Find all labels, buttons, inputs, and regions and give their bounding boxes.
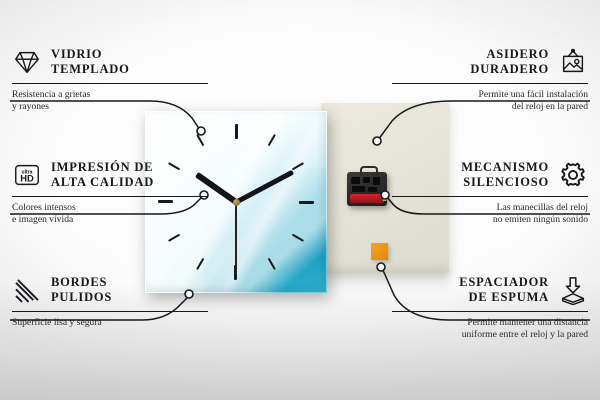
callout-desc-line1: Resistencia a grietas [12,89,208,102]
callout-title-line1: ESPACIADOR [459,275,549,290]
battery [350,194,384,203]
clock-tick [235,124,237,202]
callout-title-line2: DE ESPUMA [459,290,549,305]
callout-desc-line2: e imagen vívida [12,214,208,227]
callout-title-line2: PULIDOS [51,290,112,305]
callout-desc-line2: uniforme entre el reloj y la pared [392,329,588,342]
callout-desc-line1: Superficie lisa y segura [12,317,208,330]
callout-rule [392,196,588,197]
infographic-canvas: VIDRIO TEMPLADO Resistencia a grietas y … [0,0,600,400]
second-hand [235,202,237,274]
clock-mechanism [347,172,387,206]
gear-icon [558,160,588,190]
clock-tick [236,201,314,203]
callout-title-line1: IMPRESIÓN DE [51,160,154,175]
callout-desc-line1: Permite mantener una distancia [392,317,588,330]
callout-title-line2: SILENCIOSO [461,175,549,190]
ultra-hd-badge-icon: ultra HD [12,160,42,190]
callout-desc-line1: Colores intensos [12,202,208,215]
callout-rule [12,196,208,197]
callout-desc-line2: no emiten ningún sonido [392,214,588,227]
callout-desc-line1: Permite una fácil instalación [392,89,588,102]
callout-vidrio-templado: VIDRIO TEMPLADO Resistencia a grietas y … [12,47,208,114]
callout-title-line1: VIDRIO [51,47,130,62]
foam-spacer-pad [371,243,388,260]
callout-title-line2: TEMPLADO [51,62,130,77]
callout-rule [392,311,588,312]
callout-desc-line2: y rayones [12,101,208,114]
callout-title-line1: ASIDERO [470,47,549,62]
callout-title-line1: BORDES [51,275,112,290]
callout-rule [12,311,208,312]
hanging-picture-frame-icon [558,47,588,77]
callout-espaciador-de-espuma: ESPACIADOR DE ESPUMA Permite mantener un… [392,275,588,342]
callout-rule [12,83,208,84]
callout-impresion-alta-calidad: ultra HD IMPRESIÓN DE ALTA CALIDAD Color… [12,160,208,227]
center-pin [233,199,240,206]
arrow-down-foam-icon [558,275,588,305]
diamond-icon [12,47,42,77]
mechanism-hook [360,166,378,176]
callout-desc-line2: del reloj en la pared [392,101,588,114]
callout-bordes-pulidos: BORDES PULIDOS Superficie lisa y segura [12,275,208,329]
callout-rule [392,83,588,84]
callout-title-line2: ALTA CALIDAD [51,175,154,190]
callout-title-line2: DURADERO [470,62,549,77]
hd-label: HD [20,174,34,184]
callout-asidero-duradero: ASIDERO DURADERO Permite una fácil insta… [392,47,588,114]
callout-title-line1: MECANISMO [461,160,549,175]
callout-mecanismo-silencioso: MECANISMO SILENCIOSO Las manecillas del … [392,160,588,227]
callout-desc-line1: Las manecillas del reloj [392,202,588,215]
diagonal-lines-icon [12,275,42,305]
